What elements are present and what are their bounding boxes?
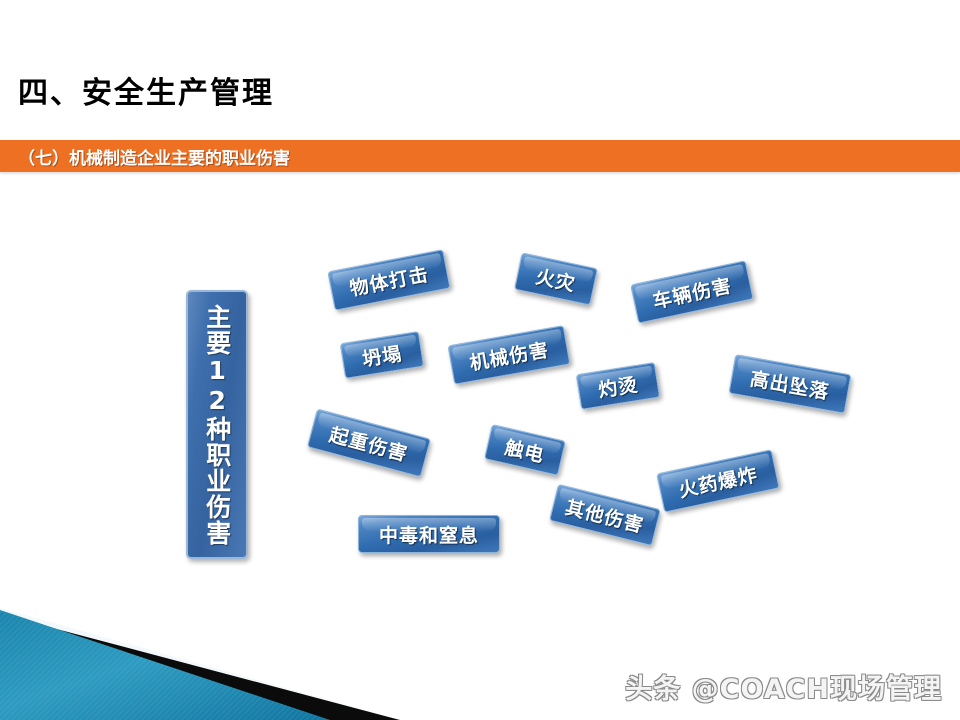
injury-node[interactable]: 坍塌 [340, 331, 425, 379]
watermark-text: 头条 @COACH现场管理 [625, 667, 942, 706]
injury-node[interactable]: 触电 [484, 424, 566, 476]
injury-types-diagram: 主要12种职业伤害 物体打击火灾车辆伤害坍塌机械伤害灼烫高出坠落起重伤害触电火药… [0, 180, 960, 590]
injury-node[interactable]: 机械伤害 [447, 325, 570, 385]
injury-node-label: 其他伤害 [563, 492, 647, 538]
diagram-main-box: 主要12种职业伤害 [186, 290, 248, 559]
injury-node[interactable]: 其他伤害 [549, 484, 661, 547]
slide-canvas: 四、安全生产管理 （七）机械制造企业主要的职业伤害 主要12种职业伤害 物体打击… [0, 0, 960, 720]
injury-node[interactable]: 火药爆炸 [656, 449, 780, 513]
injury-node-label: 火药爆炸 [676, 459, 760, 502]
diagram-main-box-label: 主要12种职业伤害 [204, 304, 230, 546]
injury-node-label: 物体打击 [347, 259, 431, 301]
injury-node[interactable]: 物体打击 [327, 249, 450, 311]
subtitle-text: （七）机械制造企业主要的职业伤害 [18, 144, 290, 169]
injury-node-label: 坍塌 [360, 339, 404, 372]
injury-node[interactable]: 高出坠落 [728, 354, 851, 414]
injury-node-label: 中毒和窒息 [379, 521, 479, 548]
injury-node-label: 触电 [502, 432, 547, 467]
injury-node[interactable]: 车辆伤害 [630, 260, 754, 324]
injury-node[interactable]: 中毒和窒息 [358, 515, 500, 553]
injury-node[interactable]: 起重伤害 [307, 408, 431, 477]
injury-node[interactable]: 火灾 [514, 252, 598, 305]
injury-node[interactable]: 灼烫 [576, 362, 661, 410]
injury-node-label: 高出坠落 [748, 364, 831, 404]
injury-node-label: 车辆伤害 [650, 270, 734, 313]
injury-node-label: 火灾 [534, 262, 579, 297]
injury-node-label: 灼烫 [596, 370, 640, 403]
corner-decoration [0, 590, 400, 720]
injury-node-label: 机械伤害 [467, 335, 550, 375]
injury-node-label: 起重伤害 [327, 420, 411, 467]
page-title: 四、安全生产管理 [18, 68, 274, 112]
